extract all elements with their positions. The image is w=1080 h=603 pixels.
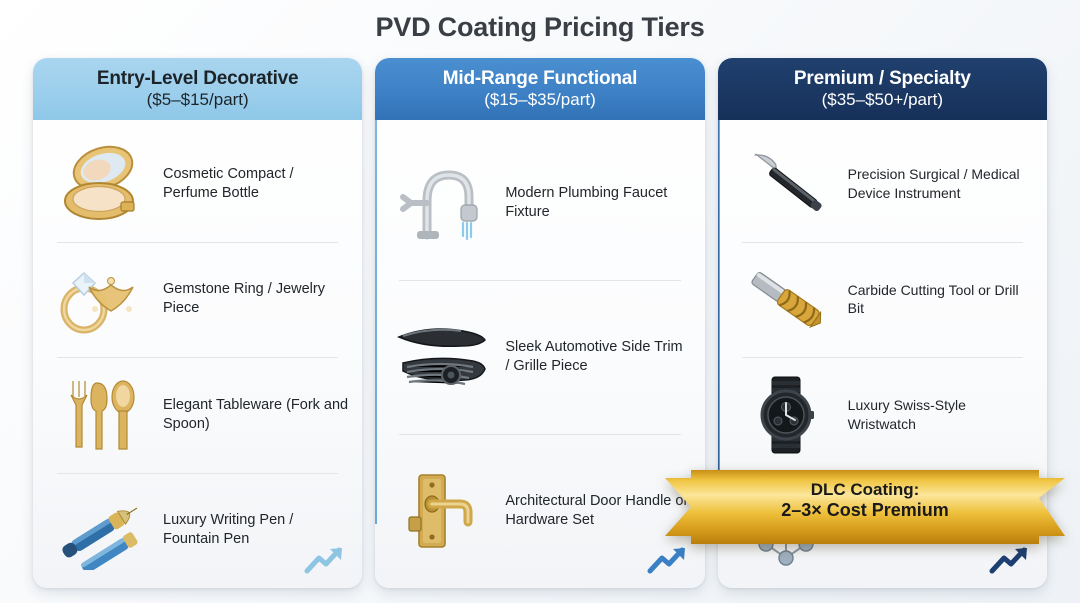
list-item-label: Gemstone Ring / Jewelry Piece	[163, 280, 348, 318]
tier-item-list: Modern Plumbing Faucet Fixture	[375, 120, 704, 588]
trend-arrow-icon	[989, 544, 1033, 576]
tableware-cutlery-icon	[47, 372, 155, 458]
tier-title: Premium / Specialty	[794, 68, 971, 90]
list-item[interactable]: Elegant Tableware (Fork and Spoon)	[47, 357, 348, 473]
tier-header-premium-specialty: Premium / Specialty ($35–$50+/part)	[718, 58, 1047, 120]
list-item[interactable]: Luxury Swiss-Style Wristwatch	[732, 357, 1033, 473]
carbide-drill-bit-icon	[732, 256, 840, 342]
ribbon-line-1: DLC Coating:	[695, 480, 1035, 500]
list-item-label: Precision Surgical / Medical Device Inst…	[848, 165, 1033, 202]
dlc-coating-badge[interactable]: DLC Coating: 2–3× Cost Premium	[665, 470, 1065, 544]
ribbon-line-2: 2–3× Cost Premium	[695, 500, 1035, 522]
tier-title: Mid-Range Functional	[443, 68, 637, 90]
tier-price-range: ($15–$35/part)	[484, 90, 596, 109]
automotive-grille-icon	[389, 314, 497, 400]
door-handle-icon	[389, 468, 497, 554]
ribbon-text: DLC Coating: 2–3× Cost Premium	[695, 480, 1035, 522]
tier-card-entry-level[interactable]: Entry-Level Decorative ($5–$15/part)	[33, 58, 362, 588]
tier-card-mid-range[interactable]: Mid-Range Functional ($15–$35/part)	[375, 58, 704, 588]
tier-connector-chevron	[375, 120, 377, 524]
list-item-label: Luxury Swiss-Style Wristwatch	[848, 396, 1033, 433]
list-item[interactable]: Architectural Door Handle or Hardware Se…	[389, 434, 690, 588]
list-item[interactable]: Carbide Cutting Tool or Drill Bit	[732, 242, 1033, 358]
list-item-label: Architectural Door Handle or Hardware Se…	[505, 492, 690, 530]
tier-connector-chevron	[718, 120, 720, 524]
tier-price-range: ($35–$50+/part)	[822, 90, 943, 109]
fountain-pen-icon	[47, 487, 155, 573]
list-item[interactable]: Sleek Automotive Side Trim / Grille Piec…	[389, 280, 690, 434]
list-item-label: Carbide Cutting Tool or Drill Bit	[848, 281, 1033, 318]
list-item-label: Elegant Tableware (Fork and Spoon)	[163, 396, 348, 434]
list-item-label: Sleek Automotive Side Trim / Grille Piec…	[505, 338, 690, 376]
wristwatch-icon	[732, 372, 840, 458]
list-item-label: Cosmetic Compact / Perfume Bottle	[163, 165, 348, 203]
list-item-label: Modern Plumbing Faucet Fixture	[505, 184, 690, 222]
tier-item-list: Cosmetic Compact / Perfume Bottle	[33, 120, 362, 588]
faucet-fixture-icon	[389, 160, 497, 246]
cosmetic-compact-icon	[47, 141, 155, 227]
list-item[interactable]: Cosmetic Compact / Perfume Bottle	[47, 126, 348, 242]
trend-arrow-icon	[647, 544, 691, 576]
tier-header-mid-range: Mid-Range Functional ($15–$35/part)	[375, 58, 704, 120]
tier-price-range: ($5–$15/part)	[147, 90, 249, 109]
page-title: PVD Coating Pricing Tiers	[0, 12, 1080, 43]
list-item[interactable]: Gemstone Ring / Jewelry Piece	[47, 242, 348, 358]
tier-header-entry-level: Entry-Level Decorative ($5–$15/part)	[33, 58, 362, 120]
trend-arrow-icon	[304, 544, 348, 576]
list-item[interactable]: Luxury Writing Pen / Fountain Pen	[47, 473, 348, 589]
tier-title: Entry-Level Decorative	[97, 68, 299, 90]
list-item[interactable]: Precision Surgical / Medical Device Inst…	[732, 126, 1033, 242]
infographic-page: PVD Coating Pricing Tiers Entry-Level De…	[0, 0, 1080, 603]
surgical-scalpel-icon	[732, 141, 840, 227]
list-item[interactable]: Modern Plumbing Faucet Fixture	[389, 126, 690, 280]
gemstone-ring-icon	[47, 256, 155, 342]
